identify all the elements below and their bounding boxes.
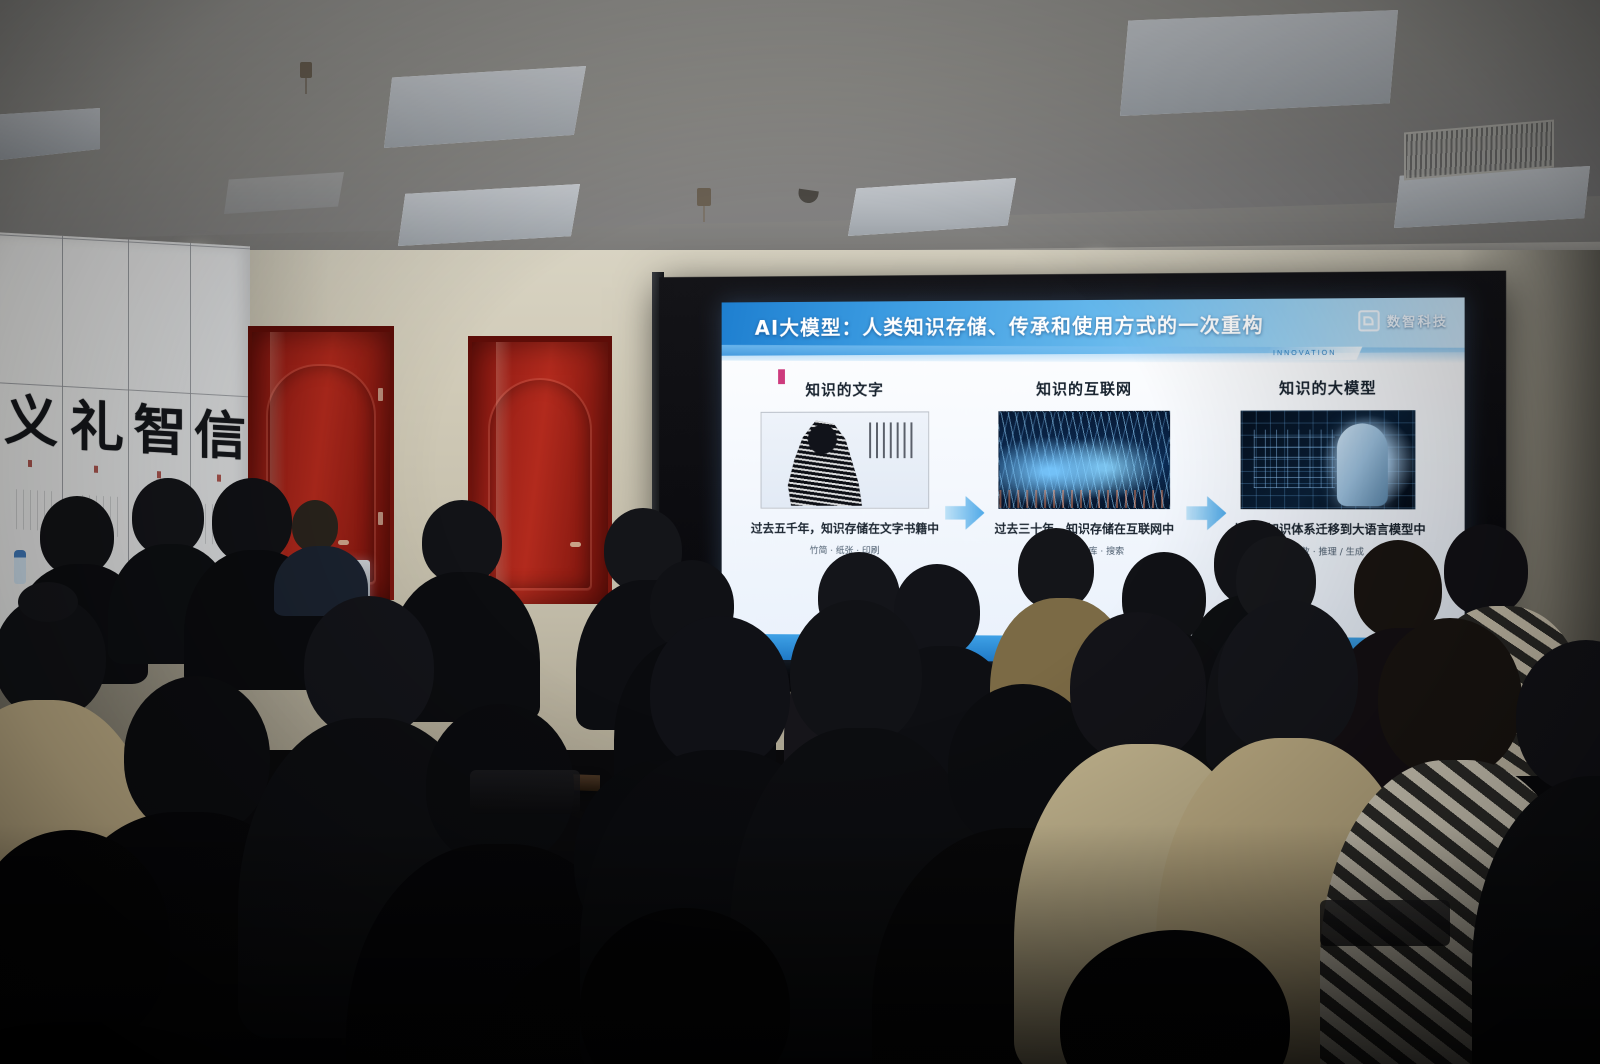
- arrow-right-2-icon: [1186, 496, 1226, 530]
- slide-column-1-caption: 过去五千年，知识存储在文字书籍中: [747, 520, 943, 538]
- calligraphy-seal-1: [28, 460, 32, 467]
- hair-bun: [18, 582, 78, 622]
- ancient-scroll-figures-image: [761, 411, 930, 508]
- calligraphy-char-zhi: 智: [130, 404, 190, 460]
- sprinkler-head-2: [697, 188, 711, 206]
- door-left-handle[interactable]: [338, 540, 349, 545]
- slide-column-3-heading: 知识的大模型: [1226, 377, 1429, 399]
- head: [292, 500, 338, 552]
- ceiling-light-4: [398, 184, 580, 246]
- water-bottle[interactable]: [14, 550, 26, 584]
- sprinkler-head-1: [300, 62, 312, 78]
- head: [1378, 618, 1522, 778]
- slide-ribbon: INNOVATION: [1265, 347, 1362, 361]
- digital-city-network-image: [998, 411, 1170, 509]
- slide-column-2: 知识的互联网 过去三十年，知识存储在互联网中 网页 · 数据库 · 搜索: [985, 378, 1185, 559]
- monitor-icon: [1358, 310, 1379, 331]
- slide-column-1: 知识的文字 过去五千年，知识存储在文字书籍中 竹简 · 纸张 · 印刷: [747, 379, 943, 559]
- slide-column-2-caption: 过去三十年，知识存储在互联网中: [985, 520, 1185, 538]
- calligraphy-char-yi: 义: [0, 392, 62, 449]
- slide-column-2-heading: 知识的互联网: [985, 378, 1185, 400]
- door-right-handle[interactable]: [570, 542, 581, 547]
- calligraphy-panel-3: 智: [130, 404, 190, 460]
- slide-column-1-heading: 知识的文字: [747, 379, 943, 400]
- calligraphy-char-li: 礼: [66, 398, 128, 455]
- slide-ribbon-text: INNOVATION: [1273, 350, 1336, 357]
- chair-back-2[interactable]: [1320, 900, 1450, 946]
- calligraphy-panel-1: 义: [0, 392, 62, 449]
- head: [1218, 600, 1358, 756]
- arrow-right-1-icon: [945, 496, 985, 530]
- calligraphy-seal-4: [217, 474, 221, 481]
- head: [1444, 524, 1528, 616]
- ceiling-light-1: [0, 108, 100, 162]
- calligraphy-seal-3: [157, 471, 161, 478]
- ceiling-light-7: [224, 172, 344, 214]
- slide-title: AI大模型：人类知识存储、传承和使用方式的一次重构: [755, 309, 1264, 341]
- ceiling-light-2: [384, 66, 586, 148]
- door-left-hinge-bottom: [378, 512, 383, 525]
- calligraphy-seal-2: [94, 466, 98, 473]
- calligraphy-char-xin: 信: [192, 409, 248, 464]
- slide-logo: 数智科技: [1358, 310, 1448, 332]
- calligraphy-panel-2: 礼: [66, 398, 128, 455]
- ai-robot-knowledge-graph-image: [1241, 410, 1416, 509]
- head: [650, 616, 790, 770]
- dome-camera-icon: [797, 189, 819, 205]
- head: [1070, 612, 1206, 762]
- ceiling-light-3: [1120, 10, 1398, 116]
- door-left-hinge-top: [378, 388, 383, 401]
- chair-back-1[interactable]: [470, 770, 580, 814]
- head: [790, 600, 922, 746]
- slide-logo-text: 数智科技: [1387, 311, 1448, 331]
- calligraphy-panel-4: 信: [192, 409, 248, 464]
- head: [304, 596, 434, 738]
- lecture-room-photo: 义 礼 智 信: [0, 0, 1600, 1064]
- door-right-sheen: [496, 342, 512, 604]
